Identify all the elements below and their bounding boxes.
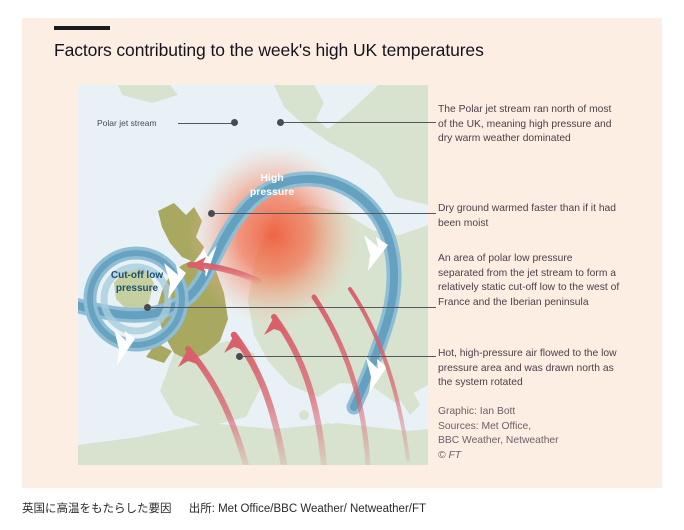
credit-sources-line2: BBC Weather, Netweather [438, 434, 628, 449]
credits-block: Graphic: Ian Bott Sources: Met Office, B… [438, 405, 628, 463]
annotation-hot-air-flow: Hot, high-pressure air flowed to the low… [438, 347, 620, 391]
map-label-cutoff-low-line2: pressure [94, 282, 180, 295]
leader-line-annotation-2 [215, 213, 436, 214]
weather-map: Polar jet stream High pressure Cut-off l… [78, 85, 428, 465]
anchor-dot-annotation-3 [144, 304, 151, 311]
map-label-cutoff-low-line1: Cut-off low [94, 269, 180, 282]
annotation-dry-ground: Dry ground warmed faster than if it had … [438, 202, 620, 231]
anchor-dot-annotation-4 [236, 353, 243, 360]
credit-graphic: Graphic: Ian Bott [438, 405, 628, 420]
credit-copyright: © FT [438, 449, 628, 464]
annotation-cut-off-low: An area of polar low pressure separated … [438, 252, 620, 310]
map-label-polar-jet-stream: Polar jet stream [97, 118, 157, 128]
credit-sources-line1: Sources: Met Office, [438, 420, 628, 435]
leader-line-annotation-4 [243, 356, 436, 357]
leader-line-annotation-1 [284, 122, 436, 123]
map-label-high-pressure-line2: pressure [243, 185, 301, 199]
annotation-jet-stream-north: The Polar jet stream ran north of most o… [438, 103, 620, 147]
anchor-dot-jet-stream-map [231, 119, 238, 126]
caption-title: 英国に高温をもたらした要因 [22, 503, 172, 515]
caption-source: 出所: Met Office/BBC Weather/ Netweather/F… [189, 503, 426, 515]
caption: 英国に高温をもたらした要因 出所: Met Office/BBC Weather… [22, 500, 662, 516]
map-label-high-pressure-line1: High [243, 171, 301, 185]
anchor-dot-annotation-2 [208, 210, 215, 217]
page-title: Factors contributing to the week's high … [54, 40, 614, 61]
leader-line-polar-jet-stream [178, 123, 232, 124]
leader-line-annotation-3 [151, 307, 436, 308]
anchor-dot-annotation-1 [277, 119, 284, 126]
title-rule [54, 26, 110, 30]
